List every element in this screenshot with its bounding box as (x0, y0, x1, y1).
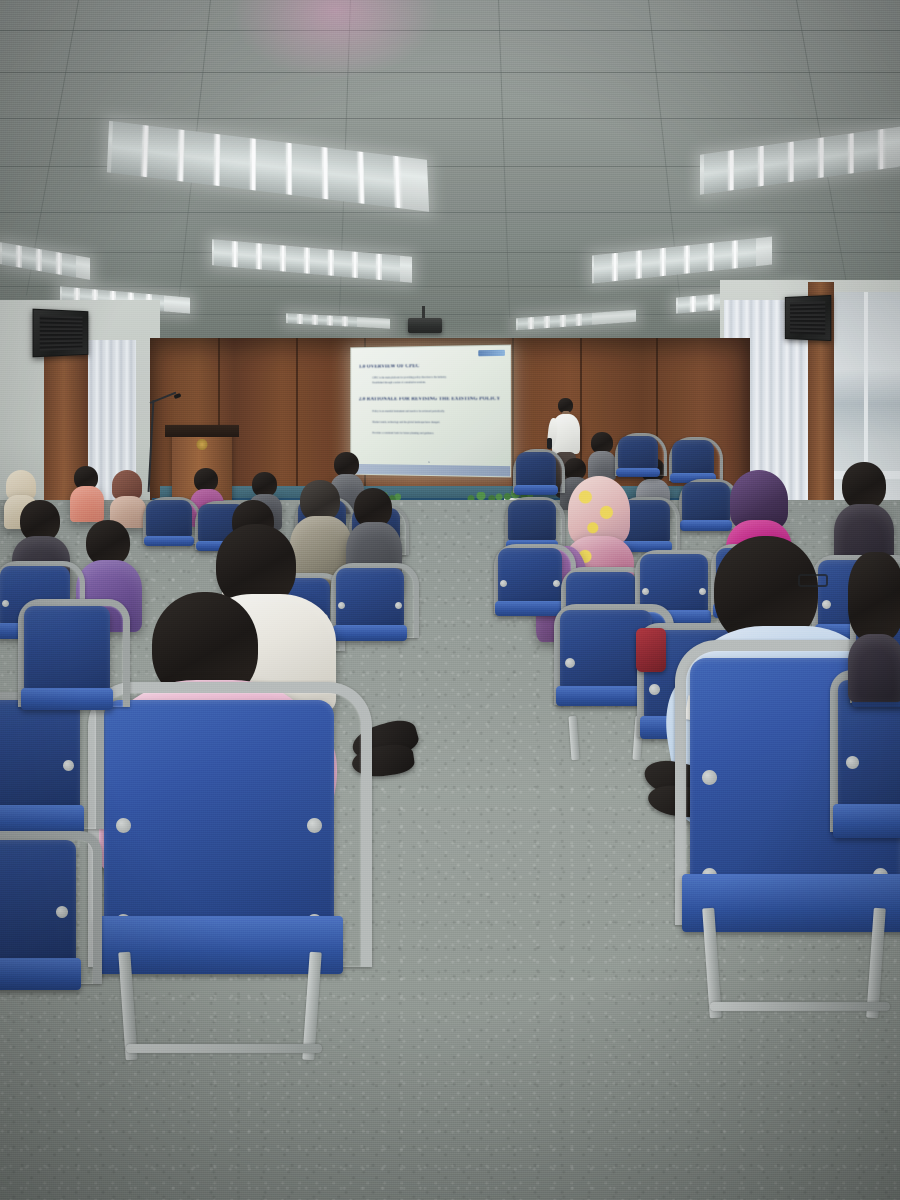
projector-icon (408, 318, 442, 333)
slide-bullet: Market trends, technology and the global… (372, 421, 440, 424)
slide-heading-1: 1.0 OVERVIEW OF CPEC (359, 364, 420, 370)
audience-member (70, 466, 104, 524)
ceiling-light-fixture (107, 121, 429, 212)
slide-bullet: Provides a consistent basis for future p… (372, 432, 434, 435)
ceiling-light-fixture (286, 313, 390, 328)
chair-stretcher (710, 1002, 890, 1011)
slide-bullet: Policy is an essential instrument and ne… (372, 410, 444, 413)
loudspeaker-icon (33, 309, 89, 358)
chair-foreground-left (104, 700, 334, 1060)
lectern-emblem (197, 439, 208, 450)
chair (24, 606, 110, 738)
chair (336, 568, 404, 660)
chair (146, 500, 192, 558)
chair (0, 840, 76, 1030)
chair (682, 482, 730, 544)
slide-page-number: 1 (428, 460, 430, 464)
loudspeaker-icon (785, 295, 831, 341)
ceiling-light-fixture (0, 242, 90, 280)
ceiling-light-fixture (700, 125, 900, 195)
chair-stretcher (126, 1044, 322, 1053)
slide-footer-bar (351, 464, 510, 477)
audience-member (588, 432, 616, 480)
projection-screen: 1.0 OVERVIEW OF CPEC CPEC is the main pl… (350, 345, 511, 478)
handbag (636, 628, 666, 672)
conference-room-photo: 1.0 OVERVIEW OF CPEC CPEC is the main pl… (0, 0, 900, 1200)
slide-bullet: CPEC is the main platform for providing … (372, 376, 446, 380)
ceiling-light-fixture (516, 310, 636, 330)
slide-brand-mark (478, 350, 505, 357)
chair (498, 548, 562, 634)
eyeglasses-icon (798, 574, 828, 587)
audience-member (848, 552, 900, 702)
handheld-microphone-icon (547, 438, 552, 449)
slide-heading-2: 2.0 RATIONALE FOR REVISING THE EXISTING … (359, 397, 500, 402)
ceiling-light-fixture (212, 239, 412, 282)
slide-bullet: Established through a series of consulta… (372, 381, 426, 384)
ceiling-light-fixture (592, 237, 772, 284)
